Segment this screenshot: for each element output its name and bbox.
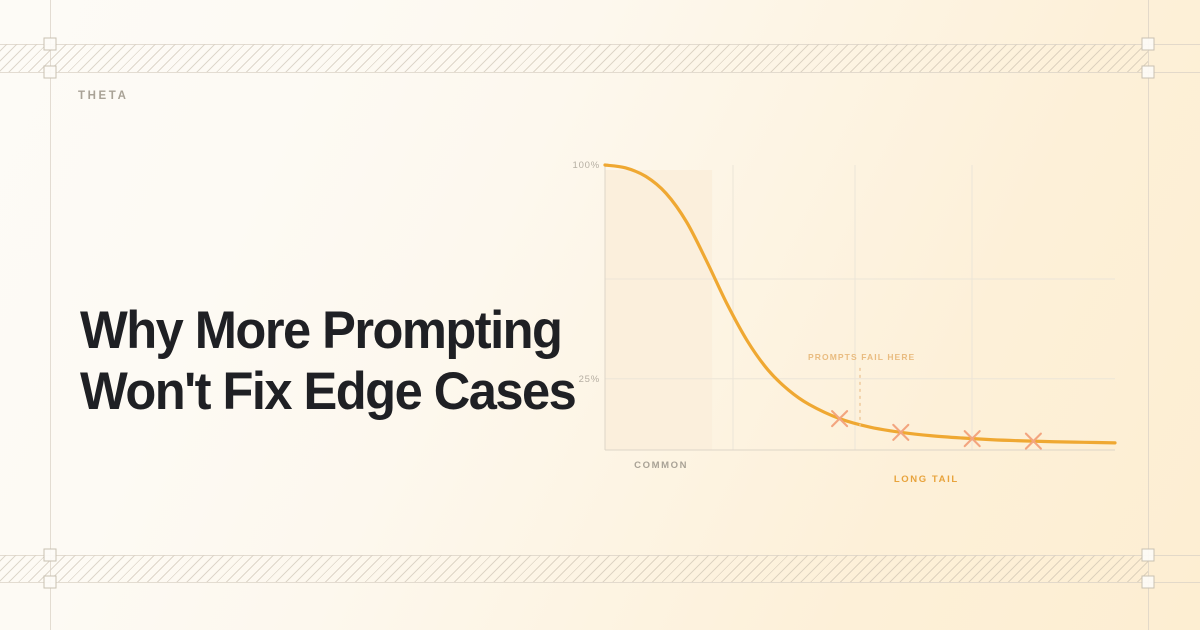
guide-vline-left [50,0,51,630]
page-title: Why More Prompting Won't Fix Edge Cases [80,300,596,423]
category-label-long-tail: LONG TAIL [894,474,959,485]
failure-marker [832,411,847,426]
chart-svg: 100% 25% PROMPTS FAIL HERE COMMON LONG T… [560,120,1160,490]
guide-hline-bottom-outer [0,582,1200,583]
hatch-band-bottom [0,555,1148,582]
chart-shaded-region [605,170,712,450]
category-label-common: COMMON [634,460,688,471]
guide-hline-top-outer [0,44,1200,45]
registration-mark [1142,66,1155,79]
chart-annotation-prompts-fail: PROMPTS FAIL HERE [808,352,915,426]
page-title-line-1: Why More Prompting [80,300,596,361]
registration-mark [1142,576,1155,589]
chart-y-ticks: 100% 25% [573,160,601,385]
y-tick-label-25: 25% [579,374,600,385]
registration-mark [44,66,57,79]
long-tail-chart: 100% 25% PROMPTS FAIL HERE COMMON LONG T… [560,120,1160,490]
chart-failure-markers [832,411,1041,449]
registration-mark [44,38,57,51]
registration-mark [44,576,57,589]
registration-mark [1142,549,1155,562]
hatch-band-top [0,44,1148,72]
chart-category-labels: COMMON LONG TAIL [634,460,959,485]
y-tick-label-100: 100% [573,160,601,171]
brand-wordmark: THETA [78,90,128,102]
guide-hline-bottom-inner [0,555,1200,556]
poster-canvas: THETA Why More Prompting Won't Fix Edge … [0,0,1200,630]
page-title-line-2: Won't Fix Edge Cases [80,361,596,422]
annotation-label: PROMPTS FAIL HERE [808,352,915,362]
registration-mark [1142,38,1155,51]
registration-mark [44,549,57,562]
guide-hline-top-inner [0,72,1200,73]
